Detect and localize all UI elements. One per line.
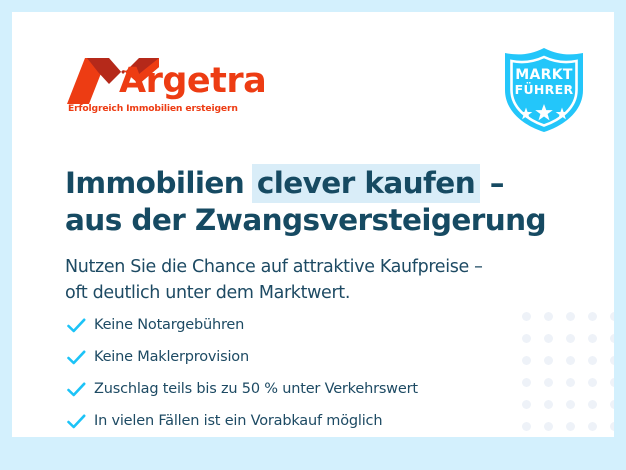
- headline-line-2: aus der Zwangsversteigerung: [65, 202, 565, 239]
- dot: [610, 312, 614, 321]
- subheading: Nutzen Sie die Chance auf attraktive Kau…: [65, 254, 585, 306]
- banner-card: Argetra Erfolgreich Immobilien ersteiger…: [12, 12, 614, 437]
- dot: [544, 312, 553, 321]
- check-icon: [67, 414, 94, 429]
- dot: [588, 378, 597, 387]
- check-icon: [67, 382, 94, 397]
- dot: [588, 312, 597, 321]
- logo-wordmark: Argetra: [119, 64, 266, 99]
- dot: [566, 400, 575, 409]
- list-item: In vielen Fällen ist ein Vorabkauf mögli…: [67, 405, 527, 437]
- dot: [566, 422, 575, 431]
- benefit-label: Keine Notargebühren: [94, 317, 244, 333]
- dot: [588, 334, 597, 343]
- dot: [610, 422, 614, 431]
- dot: [610, 334, 614, 343]
- check-icon: [67, 350, 94, 365]
- benefit-label: Zuschlag teils bis zu 50 % unter Verkehr…: [94, 381, 418, 397]
- dot: [566, 312, 575, 321]
- dot: [610, 378, 614, 387]
- dot: [544, 400, 553, 409]
- benefit-label: In vielen Fällen ist ein Vorabkauf mögli…: [94, 413, 382, 429]
- dot: [566, 378, 575, 387]
- check-icon: [67, 318, 94, 333]
- list-item: Zuschlag teils bis zu 50 % unter Verkehr…: [67, 373, 527, 405]
- headline-line-1: Immobilien clever kaufen –: [65, 165, 565, 202]
- dot: [588, 356, 597, 365]
- benefits-list: Keine Notargebühren Keine Maklerprovisio…: [67, 309, 527, 437]
- dot: [588, 400, 597, 409]
- page-title: Immobilien clever kaufen – aus der Zwang…: [65, 165, 565, 239]
- dot: [610, 400, 614, 409]
- headline-highlight: clever kaufen: [252, 164, 480, 203]
- benefit-label: Keine Maklerprovision: [94, 349, 249, 365]
- list-item: Keine Maklerprovision: [67, 341, 527, 373]
- headline-prefix: Immobilien: [65, 166, 254, 200]
- dot: [588, 422, 597, 431]
- dot: [566, 356, 575, 365]
- argetra-logo[interactable]: Argetra Erfolgreich Immobilien ersteiger…: [67, 56, 267, 118]
- dot: [544, 356, 553, 365]
- dot: [610, 356, 614, 365]
- market-leader-badge: MARKT FÜHRER: [501, 46, 587, 134]
- dot: [544, 378, 553, 387]
- headline-suffix: –: [480, 166, 504, 200]
- logo-tagline: Erfolgreich Immobilien ersteigern: [68, 103, 238, 114]
- dot: [544, 422, 553, 431]
- shield-badge-icon: [501, 46, 587, 134]
- promo-banner: Argetra Erfolgreich Immobilien ersteiger…: [0, 0, 626, 470]
- dot-grid-icon: [522, 312, 614, 437]
- dot: [566, 334, 575, 343]
- list-item: Keine Notargebühren: [67, 309, 527, 341]
- subheading-line-1: Nutzen Sie die Chance auf attraktive Kau…: [65, 254, 585, 280]
- dot: [544, 334, 553, 343]
- subheading-line-2: oft deutlich unter dem Marktwert.: [65, 280, 585, 306]
